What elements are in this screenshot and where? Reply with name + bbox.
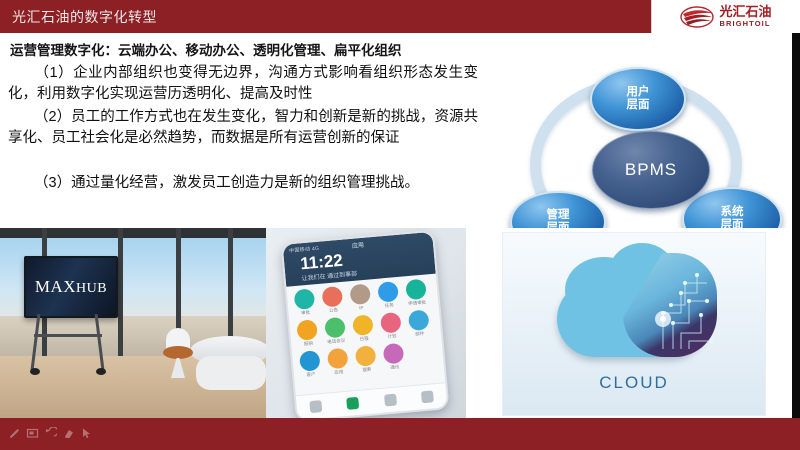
app-glyph-icon xyxy=(321,286,343,308)
app-label: 应用 xyxy=(334,369,343,376)
app-icon[interactable]: 审批 xyxy=(293,288,317,317)
maxhub-screen-label: MAXHUB xyxy=(35,277,107,297)
app-icon[interactable]: 搜索 xyxy=(354,345,378,374)
app-icon[interactable]: 任务 xyxy=(376,281,400,310)
app-label: 邮件 xyxy=(415,331,424,338)
paragraph-1-text: （1）企业内部组织也变得无边界，沟通方式影响看组织形态发生变化，利用数字化实现运… xyxy=(8,65,478,102)
eraser-icon[interactable] xyxy=(62,427,75,440)
nav-item-profile[interactable] xyxy=(421,390,434,403)
nav-item-contacts[interactable] xyxy=(384,394,397,407)
app-icon[interactable]: 日程 xyxy=(351,314,375,343)
sofa xyxy=(196,356,266,390)
cloud-caption: CLOUD xyxy=(503,373,765,393)
smartphone: 中国移动 4G 应用 11:22 让我们在 通过到事部 审批 公告 IP 任务 … xyxy=(280,230,449,418)
undo-icon[interactable] xyxy=(44,427,57,440)
stand-crossbar xyxy=(34,334,102,337)
ceiling xyxy=(0,228,266,238)
maxhub-display: MAXHUB xyxy=(24,256,118,318)
chair xyxy=(163,332,193,378)
app-icon[interactable]: 申请审批 xyxy=(404,278,428,307)
app-glyph-icon xyxy=(324,317,346,339)
nav-item-messages[interactable] xyxy=(309,400,322,413)
phone-title-bar: 应用 xyxy=(283,234,433,256)
diagram-node-center: BPMS xyxy=(592,131,710,209)
presentation-slide: 光汇石油的数字化转型 光汇石油 BRIGHTOIL 运营管理数字化：云端办公、移… xyxy=(0,0,800,450)
app-label: 审批 xyxy=(301,310,310,317)
cloud-computing-photo: CLOUD xyxy=(466,228,800,418)
window-mullion xyxy=(118,228,123,362)
right-edge-border xyxy=(792,33,800,418)
stand-caster xyxy=(30,368,40,375)
screen-icon[interactable] xyxy=(26,427,39,440)
node-management-line1: 管理 xyxy=(547,209,570,223)
stand-leg xyxy=(95,314,105,370)
app-glyph-icon xyxy=(296,319,318,341)
paragraph-3: （3）通过量化经营，激发员工创造力是新的组织管理挑战。 xyxy=(8,173,478,194)
app-glyph-icon xyxy=(352,314,374,336)
app-glyph-icon xyxy=(327,348,349,370)
app-label: 报销 xyxy=(304,341,313,348)
app-label: 客户 xyxy=(306,372,315,379)
logo-text: 光汇石油 BRIGHTOIL xyxy=(719,5,771,28)
cloud-graphic xyxy=(549,251,721,363)
app-icon[interactable]: 邮件 xyxy=(407,309,431,338)
app-icon[interactable]: 客户 xyxy=(298,350,322,379)
slide-content: 运营管理数字化：云端办公、移动办公、透明化管理、扁平化组织 （1）企业内部组织也… xyxy=(0,33,800,228)
paragraph-2: （2）员工的工作方式也在发生变化，智力和创新是新的挑战，资源共享化、员工社会化是… xyxy=(8,107,478,149)
app-glyph-icon xyxy=(299,350,321,372)
chair-base xyxy=(171,358,185,378)
node-user-line1: 用户 xyxy=(627,86,650,100)
cloud-card: CLOUD xyxy=(502,232,766,416)
page-title: 光汇石油的数字化转型 xyxy=(12,7,157,27)
app-icon[interactable]: IP xyxy=(348,283,372,312)
app-label: 日程 xyxy=(359,336,368,343)
company-logo: 光汇石油 BRIGHTOIL xyxy=(651,0,800,33)
app-glyph-icon xyxy=(383,343,405,365)
maxhub-label-hub: HUB xyxy=(76,281,107,296)
app-glyph-icon xyxy=(294,288,316,310)
pen-icon[interactable] xyxy=(8,427,21,440)
phone-header: 中国移动 4G 应用 11:22 让我们在 通过到事部 xyxy=(283,232,436,287)
slide-footer xyxy=(0,418,800,450)
app-label: 电话会议 xyxy=(327,338,345,346)
app-icon-grid: 审批 公告 IP 任务 申请审批 报销 电话会议 日程 计划 邮件 客户 应用 … xyxy=(293,278,438,379)
app-glyph-icon xyxy=(408,309,430,331)
nav-item-work[interactable] xyxy=(346,397,359,410)
maxhub-label-max: MAX xyxy=(35,277,76,296)
app-icon[interactable]: 公告 xyxy=(320,286,344,315)
app-label: 计划 xyxy=(387,333,396,340)
chair-seat xyxy=(163,346,193,359)
app-icon[interactable]: 应用 xyxy=(326,348,350,377)
app-glyph-icon xyxy=(349,283,371,305)
app-glyph-icon xyxy=(405,279,427,301)
paragraph-2-text: （2）员工的工作方式也在发生变化，智力和创新是新的挑战，资源共享化、员工社会化是… xyxy=(8,109,478,146)
app-icon[interactable]: 计划 xyxy=(379,312,403,341)
app-icon[interactable]: 通讯 xyxy=(382,343,406,372)
mobile-office-photo: 中国移动 4G 应用 11:22 让我们在 通过到事部 审批 公告 IP 任务 … xyxy=(266,228,466,418)
section-lead: 运营管理数字化：云端办公、移动办公、透明化管理、扁平化组织 xyxy=(10,39,402,59)
phone-nav-bar xyxy=(296,382,448,418)
app-label: IP xyxy=(359,305,364,310)
paragraph-3-text: （3）通过量化经营，激发员工创造力是新的组织管理挑战。 xyxy=(34,175,419,191)
app-label: 通讯 xyxy=(390,364,399,371)
node-user-line2: 层面 xyxy=(627,99,650,113)
display-stand xyxy=(30,314,108,376)
logo-name-en: BRIGHTOIL xyxy=(719,20,771,28)
slide-header: 光汇石油的数字化转型 光汇石油 BRIGHTOIL xyxy=(0,0,800,33)
app-label: 公告 xyxy=(329,307,338,314)
node-system-line1: 系统 xyxy=(721,206,744,220)
logo-name-cn: 光汇石油 xyxy=(719,5,771,18)
stand-caster xyxy=(96,368,106,375)
photo-strip: MAXHUB 中国移动 4G 应用 11:22 让我们在 通过到事部 xyxy=(0,228,800,418)
app-icon[interactable]: 电话会议 xyxy=(323,317,347,346)
app-glyph-icon xyxy=(377,281,399,303)
app-icon[interactable]: 报销 xyxy=(295,319,319,348)
app-label: 任务 xyxy=(385,302,394,309)
brightoil-swoosh-icon xyxy=(680,6,714,28)
stand-leg xyxy=(31,314,41,370)
pointer-icon[interactable] xyxy=(80,427,93,440)
annotation-toolbar xyxy=(8,427,93,440)
meeting-room-photo: MAXHUB xyxy=(0,228,266,418)
app-label: 搜索 xyxy=(362,367,371,374)
paragraph-1: （1）企业内部组织也变得无边界，沟通方式影响看组织形态发生变化，利用数字化实现运… xyxy=(8,63,478,105)
app-label: 申请审批 xyxy=(408,300,426,308)
diagram-node-user: 用户 层面 xyxy=(590,67,686,131)
app-glyph-icon xyxy=(380,312,402,334)
app-glyph-icon xyxy=(355,345,377,367)
